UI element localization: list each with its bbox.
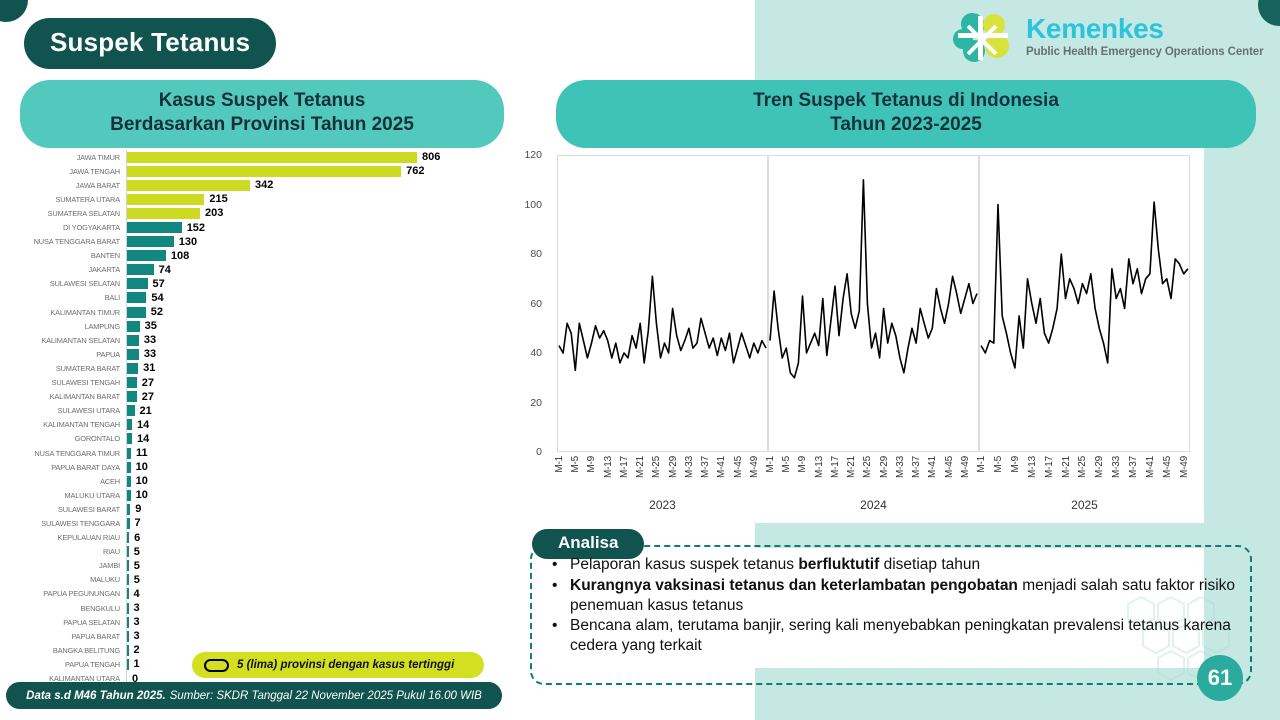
bar-category-label: SULAWESI TENGAH <box>14 378 126 387</box>
panel-year-label: 2025 <box>979 498 1190 512</box>
bar-row: PAPUA BARAT DAYA10 <box>14 460 494 474</box>
y-axis-tick: 40 <box>510 347 542 359</box>
bar-category-label: DI YOGYAKARTA <box>14 223 126 232</box>
bar-fill <box>127 518 130 529</box>
bar-fill <box>127 419 132 430</box>
bar-row: GORONTALO14 <box>14 432 494 446</box>
bar-row: LAMPUNG35 <box>14 319 494 333</box>
bar-chart-title-line1: Kasus Suspek Tetanus <box>34 89 490 113</box>
page-title: Suspek Tetanus <box>24 18 276 69</box>
bar-category-label: MALUKU UTARA <box>14 491 126 500</box>
line-series-2025 <box>979 155 1190 452</box>
x-axis-tick: M-29 <box>879 456 890 478</box>
footer-data-period: Data s.d M46 Tahun 2025. <box>26 690 166 702</box>
x-axis-tick: M-13 <box>1027 456 1038 478</box>
x-axis-tick: M-13 <box>814 456 825 478</box>
bar-row: ACEH10 <box>14 474 494 488</box>
y-axis-tick: 100 <box>510 199 542 211</box>
bar-fill <box>127 222 182 233</box>
bar-category-label: KEPULAUAN RIAU <box>14 533 126 542</box>
x-axis-tick: M-33 <box>1111 456 1122 478</box>
bar-track: 203 <box>126 206 494 220</box>
bar-track: 3 <box>126 601 494 615</box>
bar-value-label: 35 <box>145 320 157 332</box>
x-axis-tick: M-13 <box>603 456 614 478</box>
bar-category-label: KALIMANTAN SELATAN <box>14 336 126 345</box>
bar-row: JAMBI5 <box>14 559 494 573</box>
bar-fill <box>127 631 129 642</box>
kemenkes-logo: Kemenkes Public Health Emergency Operati… <box>950 8 1263 66</box>
bar-track: 3 <box>126 629 494 643</box>
bar-track: 806 <box>126 150 494 164</box>
bar-row: BANTEN108 <box>14 249 494 263</box>
x-axis-tick: M-17 <box>619 456 630 478</box>
x-axis-tick: M-5 <box>570 456 581 473</box>
bar-track: 14 <box>126 432 494 446</box>
bar-row: PAPUA SELATAN3 <box>14 615 494 629</box>
bar-category-label: PAPUA TENGAH <box>14 660 126 669</box>
footer-source: Sumber: SKDR Tanggal 22 November 2025 Pu… <box>170 690 482 702</box>
x-axis-tick: M-41 <box>1145 456 1156 478</box>
bar-fill <box>127 433 132 444</box>
x-axis-tick: M-41 <box>716 456 727 478</box>
bar-track: 27 <box>126 390 494 404</box>
bar-category-label: SUMATERA UTARA <box>14 195 126 204</box>
bar-category-label: SULAWESI SELATAN <box>14 279 126 288</box>
bar-row: NUSA TENGGARA TIMUR11 <box>14 446 494 460</box>
y-axis-tick: 0 <box>510 446 542 458</box>
bar-track: 21 <box>126 404 494 418</box>
bar-track: 342 <box>126 178 494 192</box>
bar-fill <box>127 462 131 473</box>
bar-value-label: 4 <box>134 588 140 600</box>
bar-category-label: BENGKULU <box>14 604 126 613</box>
bar-track: 5 <box>126 545 494 559</box>
bar-row: DI YOGYAKARTA152 <box>14 220 494 234</box>
line-series-2024 <box>768 155 979 452</box>
bar-value-label: 215 <box>209 193 227 205</box>
bar-category-label: ACEH <box>14 477 126 486</box>
bar-value-label: 3 <box>134 616 140 628</box>
analysis-item: •Bencana alam, terutama banjir, sering k… <box>552 616 1252 656</box>
bar-fill <box>127 659 129 670</box>
bar-category-label: RIAU <box>14 547 126 556</box>
bar-value-label: 130 <box>179 236 197 248</box>
bar-value-label: 806 <box>422 151 440 163</box>
bar-row: JAKARTA74 <box>14 263 494 277</box>
bar-fill <box>127 349 139 360</box>
x-axis-tick: M-37 <box>1128 456 1139 478</box>
bar-row: MALUKU UTARA10 <box>14 488 494 502</box>
bar-row: SULAWESI BARAT9 <box>14 502 494 516</box>
analysis-item-text: Kurangnya vaksinasi tetanus dan keterlam… <box>570 576 1252 616</box>
bar-track: 31 <box>126 361 494 375</box>
x-axis-tick: M-21 <box>635 456 646 478</box>
bar-fill <box>127 574 129 585</box>
logo-tagline: Public Health Emergency Operations Cente… <box>1026 46 1263 59</box>
bar-row: SULAWESI TENGAH27 <box>14 376 494 390</box>
bar-fill <box>127 180 250 191</box>
bar-track: 57 <box>126 277 494 291</box>
source-footer: Data s.d M46 Tahun 2025. Sumber: SKDR Ta… <box>6 682 502 709</box>
x-axis-tick: M-5 <box>993 456 1004 473</box>
bar-value-label: 74 <box>159 264 171 276</box>
y-axis-tick: 80 <box>510 248 542 260</box>
bar-fill <box>127 532 129 543</box>
bar-value-label: 2 <box>134 644 140 656</box>
bar-category-label: MALUKU <box>14 575 126 584</box>
bar-track: 27 <box>126 376 494 390</box>
bar-category-label: NUSA TENGGARA TIMUR <box>14 449 126 458</box>
bar-track: 6 <box>126 531 494 545</box>
x-axis-tick: M-17 <box>830 456 841 478</box>
panel-year-label: 2024 <box>768 498 979 512</box>
bar-fill <box>127 321 140 332</box>
bar-value-label: 33 <box>144 348 156 360</box>
analysis-item-text: Bencana alam, terutama banjir, sering ka… <box>570 616 1252 656</box>
bar-value-label: 7 <box>135 517 141 529</box>
x-axis-tick: M-41 <box>927 456 938 478</box>
bar-category-label: LAMPUNG <box>14 322 126 331</box>
bar-row: KALIMANTAN BARAT27 <box>14 390 494 404</box>
bar-track: 130 <box>126 235 494 249</box>
x-axis-tick: M-33 <box>684 456 695 478</box>
bar-track: 762 <box>126 164 494 178</box>
x-axis-tick: M-49 <box>1179 456 1190 478</box>
bar-fill <box>127 546 129 557</box>
bar-value-label: 10 <box>136 489 148 501</box>
bar-track: 74 <box>126 263 494 277</box>
bar-fill <box>127 278 148 289</box>
bar-category-label: KALIMANTAN TIMUR <box>14 308 126 317</box>
bar-track: 3 <box>126 615 494 629</box>
y-axis-tick: 60 <box>510 298 542 310</box>
bar-fill <box>127 208 200 219</box>
bar-category-label: KALIMANTAN TENGAH <box>14 420 126 429</box>
legend-highlight: 5 (lima) provinsi dengan kasus tertinggi <box>192 652 484 678</box>
bar-category-label: JAWA TENGAH <box>14 167 126 176</box>
page-number-badge: 61 <box>1197 655 1243 701</box>
x-axis-tick: M-9 <box>586 456 597 473</box>
bar-category-label: JAKARTA <box>14 265 126 274</box>
panel-year-label: 2023 <box>557 498 768 512</box>
bar-row: NUSA TENGGARA BARAT130 <box>14 235 494 249</box>
x-axis-tick: M-21 <box>846 456 857 478</box>
bar-category-label: BALI <box>14 293 126 302</box>
bar-row: JAWA TIMUR806 <box>14 150 494 164</box>
bar-track: 7 <box>126 516 494 530</box>
bar-track: 9 <box>126 502 494 516</box>
bar-track: 35 <box>126 319 494 333</box>
x-axis-tick: M-9 <box>797 456 808 473</box>
bar-fill <box>127 307 146 318</box>
bar-category-label: SUMATERA SELATAN <box>14 209 126 218</box>
bar-row: BALI54 <box>14 291 494 305</box>
bar-value-label: 3 <box>134 630 140 642</box>
bar-row: SULAWESI UTARA21 <box>14 404 494 418</box>
bar-value-label: 14 <box>137 433 149 445</box>
bar-chart-title: Kasus Suspek Tetanus Berdasarkan Provins… <box>20 80 504 148</box>
line-series-2023 <box>557 155 768 452</box>
bar-fill <box>127 504 130 515</box>
bar-value-label: 21 <box>140 405 152 417</box>
bar-value-label: 14 <box>137 419 149 431</box>
bar-fill <box>127 250 166 261</box>
bar-track: 33 <box>126 347 494 361</box>
logo-wordmark: Kemenkes <box>1026 15 1263 43</box>
bar-fill <box>127 490 131 501</box>
x-axis-tick: M-25 <box>862 456 873 478</box>
bar-category-label: JAWA BARAT <box>14 181 126 190</box>
line-chart: 020406080100120M-1M-5M-9M-13M-17M-21M-25… <box>510 140 1200 515</box>
bar-row: SULAWESI SELATAN57 <box>14 277 494 291</box>
bar-fill <box>127 391 137 402</box>
bullet-icon: • <box>552 576 560 616</box>
kemenkes-pinwheel-icon <box>950 8 1016 66</box>
analysis-item: •Kurangnya vaksinasi tetanus dan keterla… <box>552 576 1252 616</box>
bar-row: MALUKU5 <box>14 573 494 587</box>
bar-category-label: PAPUA BARAT DAYA <box>14 463 126 472</box>
y-axis-tick: 120 <box>510 149 542 161</box>
bar-row: KALIMANTAN TIMUR52 <box>14 305 494 319</box>
bullet-icon: • <box>552 555 560 575</box>
decor-circle-top-left <box>0 0 28 22</box>
bar-value-label: 108 <box>171 250 189 262</box>
bar-category-label: GORONTALO <box>14 434 126 443</box>
legend-label: 5 (lima) provinsi dengan kasus tertinggi <box>237 659 454 671</box>
bar-category-label: SULAWESI TENGGARA <box>14 519 126 528</box>
bar-value-label: 203 <box>205 207 223 219</box>
bar-category-label: SULAWESI UTARA <box>14 406 126 415</box>
bar-value-label: 11 <box>136 447 148 459</box>
bar-category-label: JAWA TIMUR <box>14 153 126 162</box>
bar-track: 10 <box>126 460 494 474</box>
bar-category-label: SUMATERA BARAT <box>14 364 126 373</box>
bar-track: 5 <box>126 573 494 587</box>
slide: Suspek Tetanus Kemenkes Public Health Em… <box>0 0 1280 720</box>
bar-fill <box>127 560 129 571</box>
x-axis-tick: M-45 <box>1162 456 1173 478</box>
bar-fill <box>127 166 401 177</box>
bar-row: RIAU5 <box>14 545 494 559</box>
bar-fill <box>127 152 417 163</box>
x-axis-tick: M-5 <box>781 456 792 473</box>
bar-value-label: 10 <box>136 475 148 487</box>
x-axis-tick: M-29 <box>668 456 679 478</box>
x-axis-tick: M-49 <box>749 456 760 478</box>
analysis-emphasis: Kurangnya vaksinasi tetanus dan keterlam… <box>570 577 1018 594</box>
bar-row: PAPUA BARAT3 <box>14 629 494 643</box>
bar-track: 108 <box>126 249 494 263</box>
bar-value-label: 6 <box>134 532 140 544</box>
bar-category-label: BANTEN <box>14 251 126 260</box>
bar-chart-title-line2: Berdasarkan Provinsi Tahun 2025 <box>34 113 490 137</box>
bar-category-label: KALIMANTAN BARAT <box>14 392 126 401</box>
x-axis-tick: M-21 <box>1061 456 1072 478</box>
line-chart-title-line1: Tren Suspek Tetanus di Indonesia <box>570 89 1242 113</box>
bar-track: 54 <box>126 291 494 305</box>
bar-row: KALIMANTAN SELATAN33 <box>14 333 494 347</box>
bar-track: 11 <box>126 446 494 460</box>
bar-fill <box>127 363 138 374</box>
bar-value-label: 57 <box>153 278 165 290</box>
bar-value-label: 9 <box>135 503 141 515</box>
bar-fill <box>127 292 146 303</box>
bar-value-label: 5 <box>134 546 140 558</box>
analysis-item: •Pelaporan kasus suspek tetanus berflukt… <box>552 555 1252 575</box>
bullet-icon: • <box>552 616 560 656</box>
bar-category-label: PAPUA PEGUNUNGAN <box>14 589 126 598</box>
bar-fill <box>127 194 204 205</box>
x-axis-tick: M-37 <box>911 456 922 478</box>
x-axis-tick: M-45 <box>944 456 955 478</box>
bar-fill <box>127 448 131 459</box>
bar-value-label: 31 <box>143 362 155 374</box>
x-axis-tick: M-17 <box>1044 456 1055 478</box>
bar-value-label: 342 <box>255 179 273 191</box>
bar-value-label: 5 <box>134 574 140 586</box>
analysis-emphasis: berfluktutif <box>798 556 879 573</box>
bar-fill <box>127 645 129 656</box>
bar-track: 5 <box>126 559 494 573</box>
analysis-list: •Pelaporan kasus suspek tetanus berflukt… <box>552 555 1252 657</box>
bar-row: SUMATERA SELATAN203 <box>14 206 494 220</box>
bar-row: SULAWESI TENGGARA7 <box>14 516 494 530</box>
bar-track: 10 <box>126 474 494 488</box>
bar-value-label: 152 <box>187 222 205 234</box>
x-axis-tick: M-25 <box>1077 456 1088 478</box>
bar-track: 33 <box>126 333 494 347</box>
x-axis-tick: M-49 <box>960 456 971 478</box>
bar-value-label: 27 <box>142 377 154 389</box>
bar-track: 10 <box>126 488 494 502</box>
bar-fill <box>127 236 174 247</box>
bar-category-label: BANGKA BELITUNG <box>14 646 126 655</box>
bar-category-label: JAMBI <box>14 561 126 570</box>
bar-value-label: 3 <box>134 602 140 614</box>
capsule-icon <box>204 659 229 672</box>
bar-row: KEPULAUAN RIAU6 <box>14 531 494 545</box>
bar-fill <box>127 264 154 275</box>
bar-value-label: 1 <box>134 658 140 670</box>
bar-row: SUMATERA BARAT31 <box>14 361 494 375</box>
bar-fill <box>127 603 129 614</box>
bar-track: 152 <box>126 220 494 234</box>
x-axis-tick: M-1 <box>554 456 565 473</box>
bar-row: KALIMANTAN TENGAH14 <box>14 418 494 432</box>
bar-value-label: 52 <box>151 306 163 318</box>
analysis-item-text: Pelaporan kasus suspek tetanus berfluktu… <box>570 555 980 575</box>
bar-fill <box>127 588 129 599</box>
bar-row: BENGKULU3 <box>14 601 494 615</box>
bar-category-label: PAPUA <box>14 350 126 359</box>
bar-chart: JAWA TIMUR806JAWA TENGAH762JAWA BARAT342… <box>14 150 494 675</box>
bar-row: JAWA TENGAH762 <box>14 164 494 178</box>
bar-fill <box>127 476 131 487</box>
bar-fill <box>127 405 135 416</box>
bar-category-label: PAPUA SELATAN <box>14 618 126 627</box>
x-axis-tick: M-1 <box>765 456 776 473</box>
x-axis-tick: M-9 <box>1010 456 1021 473</box>
x-axis-tick: M-25 <box>651 456 662 478</box>
bar-track: 52 <box>126 305 494 319</box>
bar-value-label: 54 <box>151 292 163 304</box>
bar-fill <box>127 335 139 346</box>
line-chart-title: Tren Suspek Tetanus di Indonesia Tahun 2… <box>556 80 1256 148</box>
bar-track: 4 <box>126 587 494 601</box>
x-axis-tick: M-29 <box>1094 456 1105 478</box>
bar-row: PAPUA PEGUNUNGAN4 <box>14 587 494 601</box>
bar-value-label: 5 <box>134 560 140 572</box>
x-axis-tick: M-45 <box>733 456 744 478</box>
bar-category-label: SULAWESI BARAT <box>14 505 126 514</box>
bar-row: SUMATERA UTARA215 <box>14 192 494 206</box>
bar-value-label: 27 <box>142 391 154 403</box>
bar-value-label: 33 <box>144 334 156 346</box>
x-axis-tick: M-1 <box>976 456 987 473</box>
x-axis-tick: M-37 <box>700 456 711 478</box>
bar-category-label: PAPUA BARAT <box>14 632 126 641</box>
line-chart-title-line2: Tahun 2023-2025 <box>570 113 1242 137</box>
x-axis-tick: M-33 <box>895 456 906 478</box>
bar-value-label: 10 <box>136 461 148 473</box>
bar-fill <box>127 617 129 628</box>
bar-value-label: 762 <box>406 165 424 177</box>
bar-track: 14 <box>126 418 494 432</box>
bar-row: JAWA BARAT342 <box>14 178 494 192</box>
bar-track: 215 <box>126 192 494 206</box>
bar-category-label: NUSA TENGGARA BARAT <box>14 237 126 246</box>
bar-row: PAPUA33 <box>14 347 494 361</box>
bar-fill <box>127 377 137 388</box>
y-axis-tick: 20 <box>510 397 542 409</box>
